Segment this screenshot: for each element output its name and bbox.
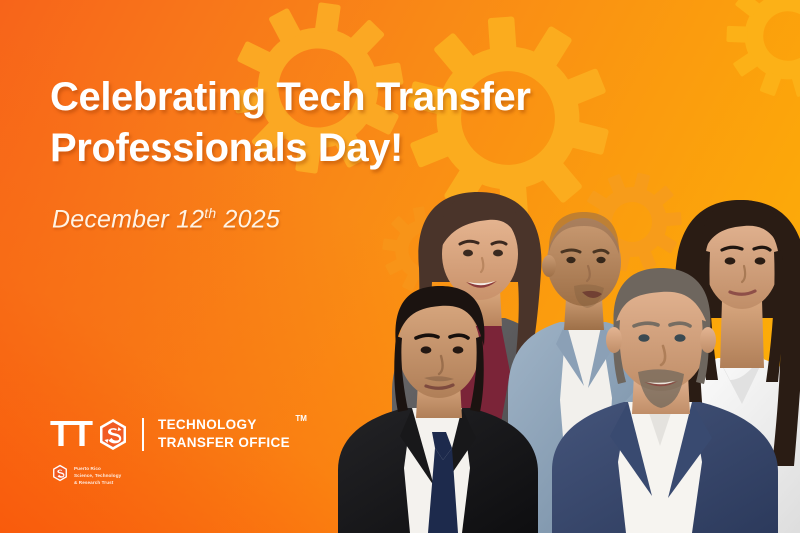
trust-logo[interactable]: Puerto Rico Science, Technology & Resear…	[52, 464, 290, 487]
tto-logo-row: TT TECHNOLOGY TRANSFER OFFICE TM	[50, 416, 290, 452]
microphone-icon	[633, 329, 665, 414]
hexagon-s-icon	[98, 418, 128, 451]
gear-small-left	[376, 200, 476, 301]
gear-small-right	[572, 162, 691, 282]
page-title: Celebrating Tech Transfer Professionals …	[50, 72, 570, 174]
tto-wordmark-line1: TECHNOLOGY	[158, 417, 257, 432]
event-date-monthday: December 12	[52, 205, 204, 233]
trust-hexagon-icon	[52, 464, 68, 487]
tto-wordmark-line2: TRANSFER OFFICE	[158, 435, 290, 450]
celebration-banner: Celebrating Tech Transfer Professionals …	[0, 0, 800, 533]
person-man-with-microphone	[508, 212, 668, 533]
person-woman-white-blouse	[664, 200, 800, 533]
person-man-black-suit	[338, 286, 538, 533]
logo-divider	[142, 418, 144, 451]
gear-edge-right	[710, 0, 800, 114]
person-man-navy-blazer	[552, 268, 778, 533]
event-date-year: 2025	[216, 205, 280, 233]
tto-letters: TT	[50, 416, 92, 452]
person-woman-smiling-blazer	[392, 192, 560, 533]
trademark-icon: TM	[295, 414, 307, 424]
event-date-ordinal: th	[204, 205, 216, 221]
tto-logo[interactable]: TT TECHNOLOGY TRANSFER OFFICE TM	[50, 416, 290, 487]
event-date: December 12th 2025	[52, 205, 280, 234]
tto-wordmark: TECHNOLOGY TRANSFER OFFICE TM	[158, 416, 290, 451]
trust-wordmark: Puerto Rico Science, Technology & Resear…	[74, 465, 121, 486]
